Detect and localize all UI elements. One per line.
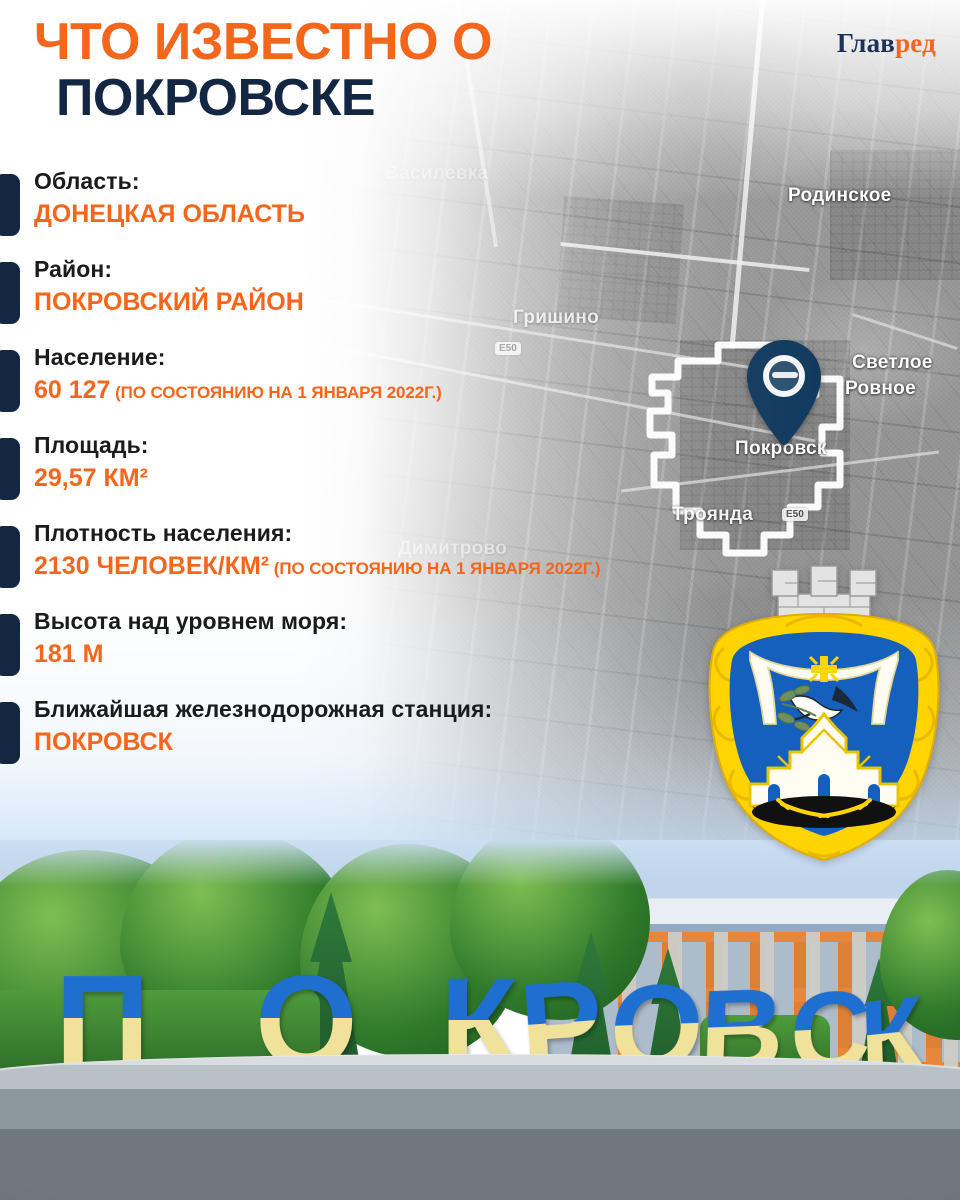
fact-marker-bar [0,262,20,324]
fact-label: Плотность населения: [34,520,760,548]
fact-value: ПОКРОВСК [34,727,760,757]
fact-value-text: 181 М [34,640,103,668]
fact-value: ПОКРОВСКИЙ РАЙОН [34,287,760,317]
fact-list: Область:ДОНЕЦКАЯ ОБЛАСТЬРайон:ПОКРОВСКИЙ… [0,168,760,784]
fact-marker-bar [0,350,20,412]
fact-value: 60 127 (ПО СОСТОЯНИЮ НА 1 ЯНВАРЯ 2022Г.) [34,375,760,405]
builtup-area-rodinskoe [830,150,960,280]
fact-marker-bar [0,174,20,236]
fact-label: Население: [34,344,760,372]
cross-icon [810,656,838,682]
fact-value-text: 2130 ЧЕЛОВЕК/КМ² [34,552,269,580]
map-label: Родинское [788,185,891,207]
fact-row: Плотность населения:2130 ЧЕЛОВЕК/КМ² (ПО… [0,520,760,608]
fact-label: Область: [34,168,760,196]
fact-value-text: 29,57 КМ² [34,464,148,492]
fact-row: Область:ДОНЕЦКАЯ ОБЛАСТЬ [0,168,760,256]
fact-row: Площадь:29,57 КМ² [0,432,760,520]
fact-row: Высота над уровнем моря:181 М [0,608,760,696]
fact-label: Ближайшая железнодорожная станция: [34,696,760,724]
fact-marker-bar [0,702,20,764]
fact-marker-bar [0,438,20,500]
brand-part-2: ред [895,28,936,58]
fact-label: Высота над уровнем моря: [34,608,760,636]
city-entrance-photo: ПОКРОВСК [0,840,960,1200]
brand-part-1: Глав [837,28,895,58]
fact-marker-bar [0,614,20,676]
title-line-1: ЧТО ИЗВЕСТНО О [34,14,492,70]
fact-value-text: ПОКРОВСКИЙ РАЙОН [34,288,304,316]
fact-row: Район:ПОКРОВСКИЙ РАЙОН [0,256,760,344]
map-label: Светлое [852,352,933,374]
fact-marker-bar [0,526,20,588]
coat-of-arms-pokrovsk [690,556,958,868]
brand-logo-glavred[interactable]: Главред [837,28,936,59]
fact-note: (ПО СОСТОЯНИЮ НА 1 ЯНВАРЯ 2022Г.) [110,383,441,402]
fact-label: Район: [34,256,760,284]
crossed-sabres-icon [752,796,896,828]
fact-value-text: 60 127 [34,376,110,404]
fact-value-text: ПОКРОВСК [34,728,173,756]
highway-shield-icon: E50 [782,508,808,521]
fact-row: Ближайшая железнодорожная станция:ПОКРОВ… [0,696,760,784]
fact-value: ДОНЕЦКАЯ ОБЛАСТЬ [34,199,760,229]
title-line-2: ПОКРОВСКЕ [34,70,492,126]
fact-value: 29,57 КМ² [34,463,760,493]
infographic-poster: ВасилевкаРодинскоеГришиноСветлоеРовноеПо… [0,0,960,1200]
fact-row: Население:60 127 (ПО СОСТОЯНИЮ НА 1 ЯНВА… [0,344,760,432]
fact-note: (ПО СОСТОЯНИЮ НА 1 ЯНВАРЯ 2022Г.) [269,559,600,578]
mural-crown-icon [772,566,876,620]
page-title: ЧТО ИЗВЕСТНО О ПОКРОВСКЕ [34,14,492,126]
fact-value: 2130 ЧЕЛОВЕК/КМ² (ПО СОСТОЯНИЮ НА 1 ЯНВА… [34,551,760,581]
fact-label: Площадь: [34,432,760,460]
concrete-plinth [0,1055,960,1200]
fact-value: 181 М [34,639,760,669]
map-label: Ровное [845,378,916,400]
fact-value-text: ДОНЕЦКАЯ ОБЛАСТЬ [34,200,305,228]
